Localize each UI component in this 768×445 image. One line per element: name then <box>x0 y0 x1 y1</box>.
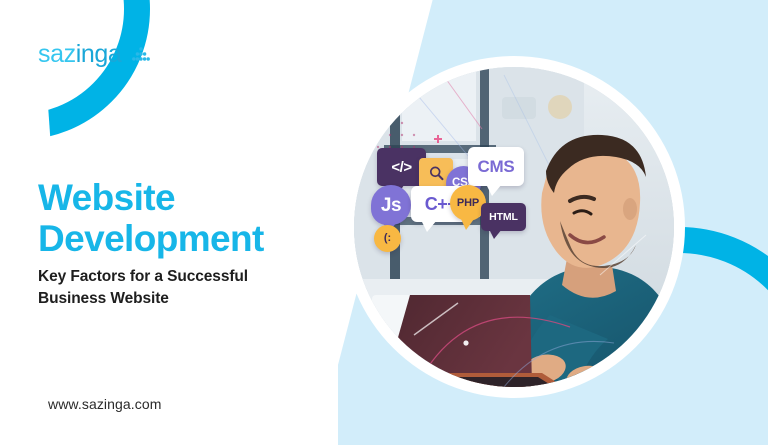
bubble-tail <box>489 229 502 239</box>
cms-icon: CMS <box>478 158 515 175</box>
badge-cms[interactable]: CMS <box>468 147 524 186</box>
badge-html[interactable]: HTML <box>481 203 526 231</box>
brand-logo-text-part1: saz <box>38 40 76 68</box>
page-subtitle: Key Factors for a Successful Business We… <box>38 266 338 310</box>
brand-logo-wordmark: sazinga <box>38 42 121 67</box>
brand-logo-text-part2: inga <box>76 40 122 68</box>
badge-smiley[interactable]: (: <box>374 225 401 252</box>
pyramid-dots-icon <box>130 46 152 63</box>
bubble-tail <box>461 219 474 230</box>
bubble-tail <box>486 184 502 196</box>
slide-canvas: </> CSS CMS Js C++ PHP <box>0 0 768 445</box>
page-subtitle-line2: Business Website <box>38 288 338 310</box>
javascript-icon: Js <box>381 196 401 215</box>
page-title: Website Development <box>38 177 368 260</box>
smiley-icon: (: <box>384 233 391 244</box>
php-icon: PHP <box>457 198 479 209</box>
page-title-line1: Website <box>38 177 368 218</box>
magnifier-icon <box>428 165 445 182</box>
website-url[interactable]: www.sazinga.com <box>48 396 162 412</box>
page-subtitle-line1: Key Factors for a Successful <box>38 266 338 288</box>
brand-logo[interactable]: sazinga <box>38 42 152 67</box>
content-column: sazinga Website Development Key Factors … <box>0 0 400 445</box>
html-icon: HTML <box>489 212 518 223</box>
page-title-line2: Development <box>38 218 368 259</box>
code-tag-icon: </> <box>391 160 411 175</box>
badge-javascript[interactable]: Js <box>371 185 411 225</box>
bubble-tail <box>421 220 437 232</box>
